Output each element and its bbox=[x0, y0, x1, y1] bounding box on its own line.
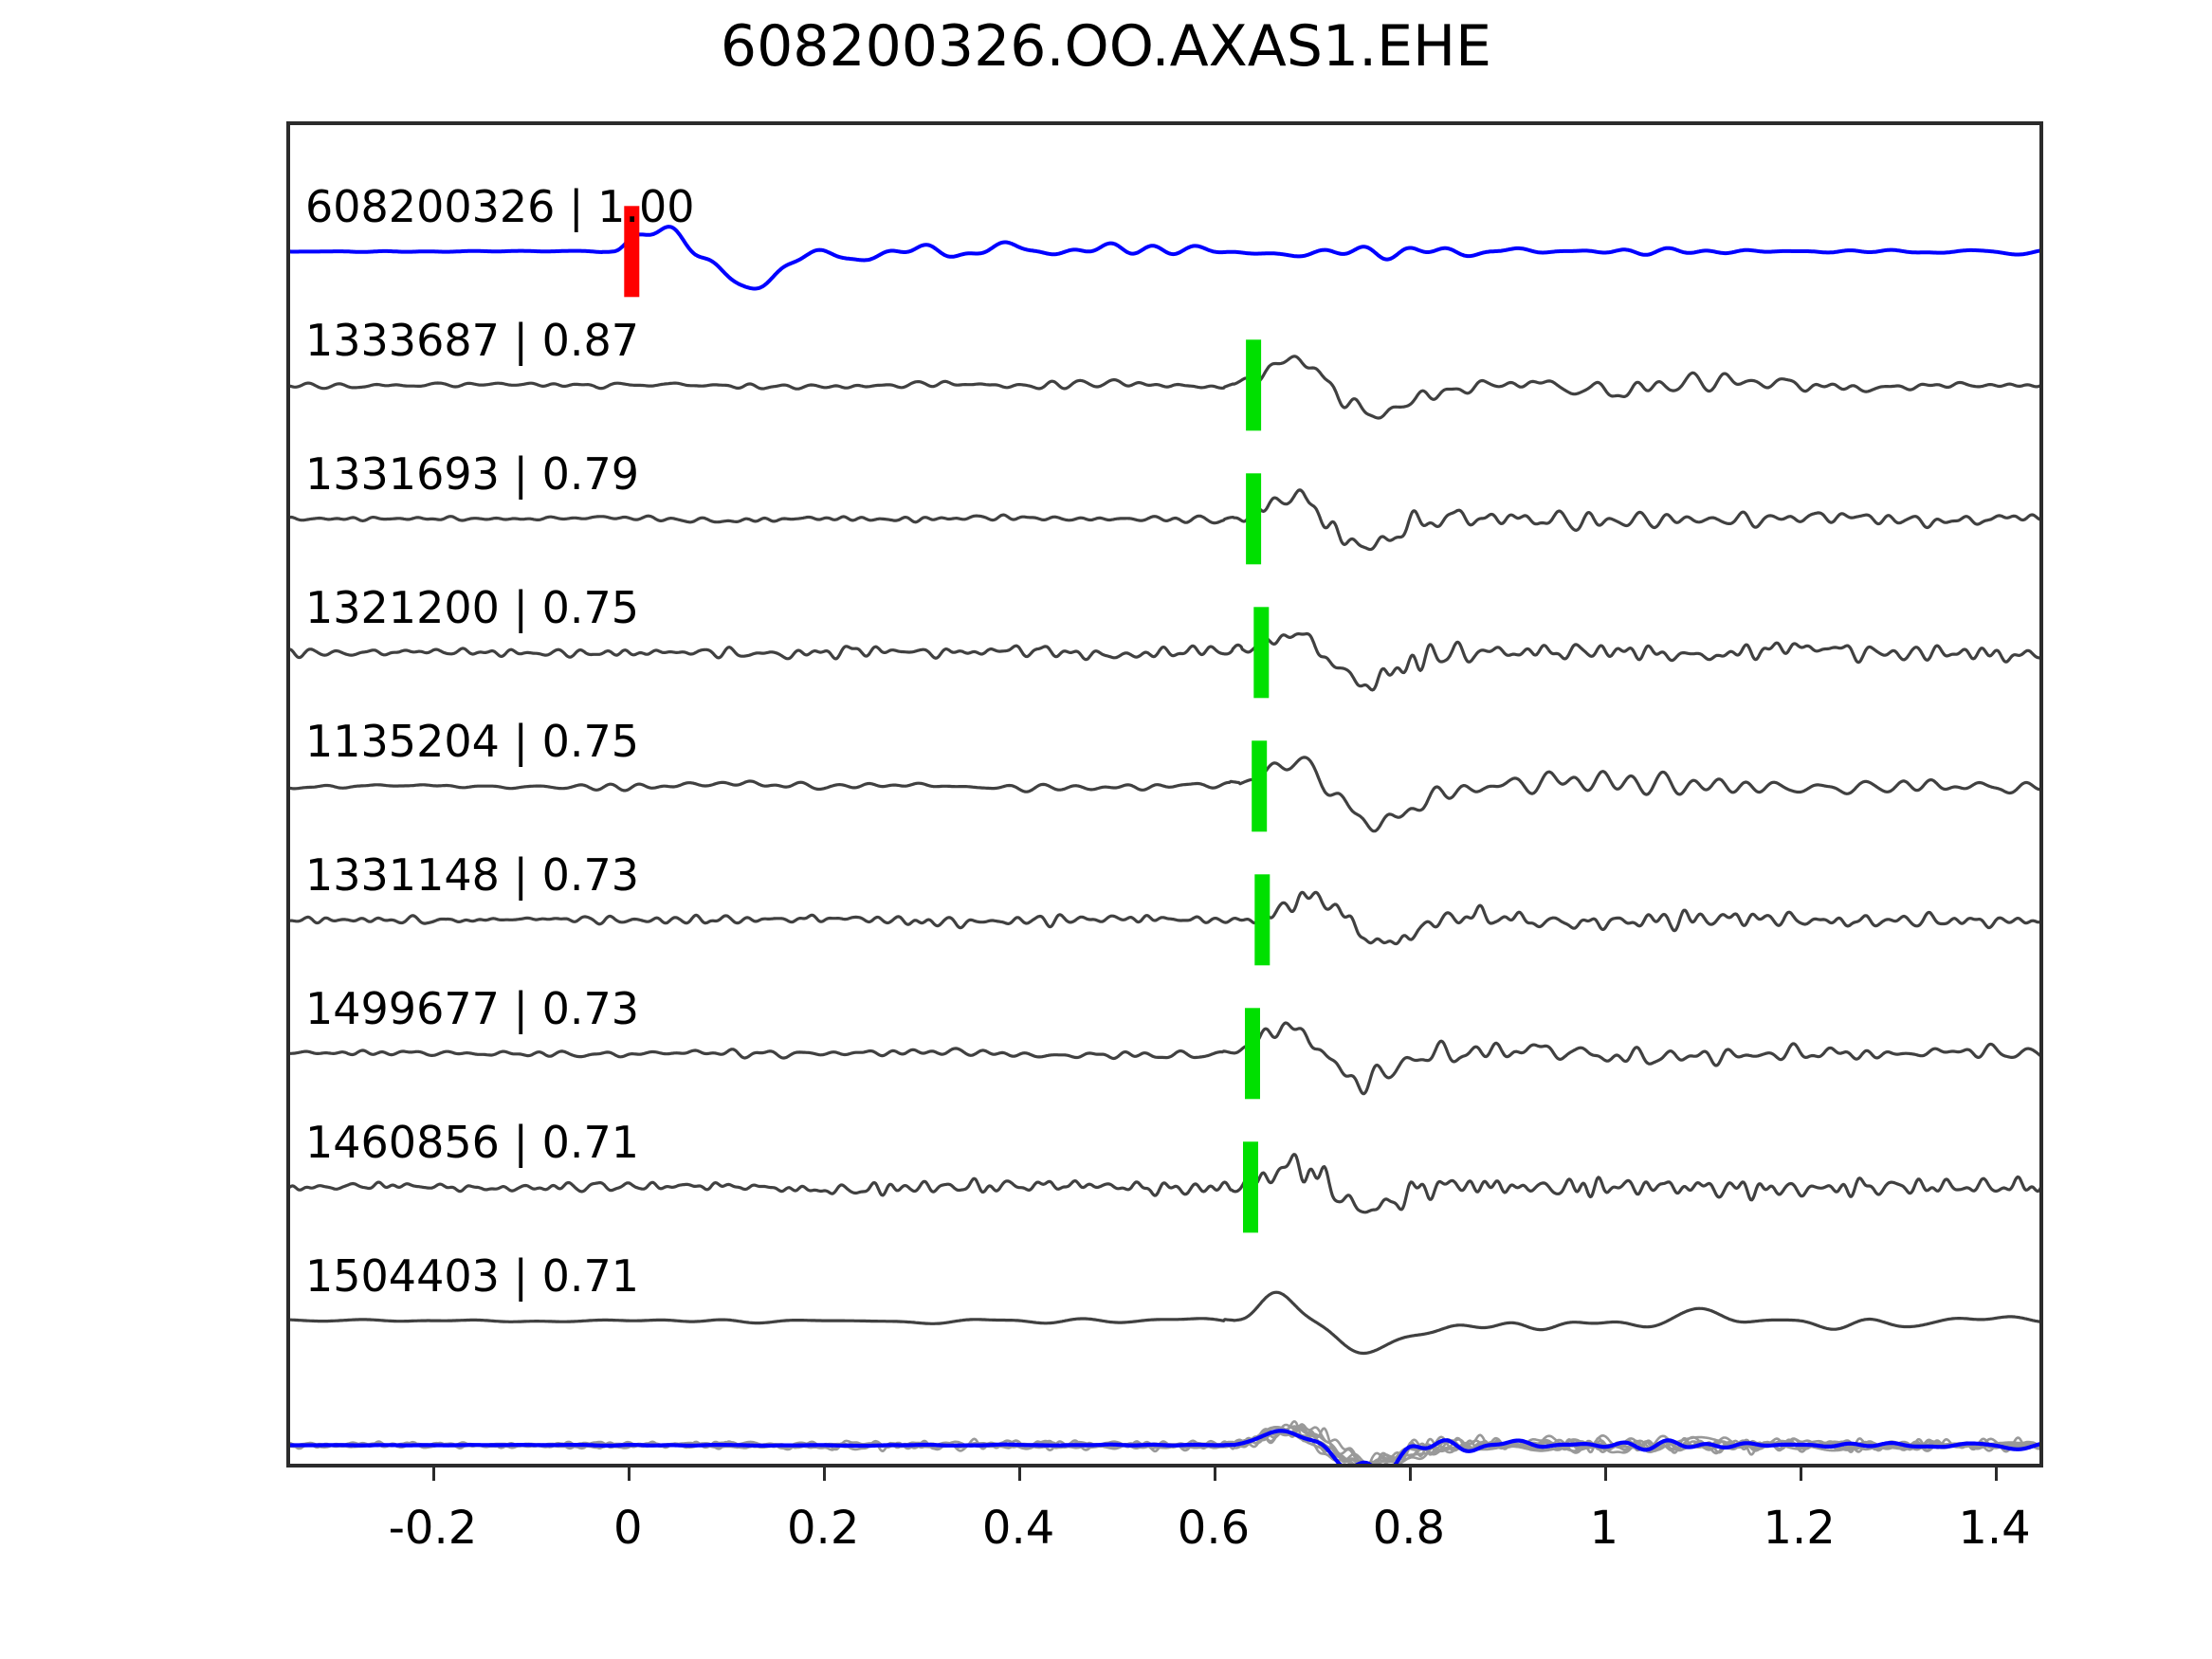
x-tick-mark bbox=[823, 1466, 826, 1481]
x-tick-mark bbox=[628, 1466, 631, 1481]
trace-line-1321200 bbox=[290, 634, 2043, 690]
trace-label-1460856: 1460856 | 0.71 bbox=[305, 1121, 639, 1164]
x-tick-mark bbox=[1995, 1466, 1998, 1481]
pick-marker-detection-1331693 bbox=[1246, 473, 1261, 564]
pick-marker-detection-1499677 bbox=[1245, 1008, 1260, 1099]
x-tick-mark bbox=[1800, 1466, 1802, 1481]
page-title: 608200326.OO.AXAS1.EHE bbox=[0, 13, 2212, 80]
x-axis-tick-labels: -0.200.20.40.60.811.21.4 bbox=[286, 1481, 2043, 1547]
trace-label-1499677: 1499677 | 0.73 bbox=[305, 987, 639, 1030]
trace-label-1333687: 1333687 | 0.87 bbox=[305, 319, 639, 362]
x-tick-mark bbox=[1409, 1466, 1412, 1481]
x-tick-label: -0.2 bbox=[389, 1502, 478, 1555]
x-tick-label: 0.6 bbox=[1178, 1502, 1250, 1555]
x-tick-mark bbox=[1214, 1466, 1216, 1481]
x-tick-label: 1 bbox=[1589, 1502, 1618, 1555]
x-tick-label: 0.8 bbox=[1373, 1502, 1445, 1555]
trace-line-608200326 bbox=[290, 227, 2043, 288]
x-tick-label: 0 bbox=[613, 1502, 643, 1555]
figure-root: 608200326.OO.AXAS1.EHE 608200326 | 1.001… bbox=[0, 0, 2212, 1659]
pick-marker-detection-1331148 bbox=[1254, 874, 1270, 965]
x-tick-label: 1.2 bbox=[1763, 1502, 1835, 1555]
pick-marker-detection-1321200 bbox=[1253, 607, 1269, 698]
x-tick-label: 1.4 bbox=[1958, 1502, 2030, 1555]
x-tick-mark bbox=[1604, 1466, 1607, 1481]
trace-label-1331148: 1331148 | 0.73 bbox=[305, 853, 639, 897]
x-tick-label: 0.2 bbox=[787, 1502, 859, 1555]
trace-label-1504403: 1504403 | 0.71 bbox=[305, 1254, 639, 1298]
trace-label-608200326: 608200326 | 1.00 bbox=[305, 185, 695, 228]
trace-label-1331693: 1331693 | 0.79 bbox=[305, 452, 639, 496]
pick-marker-detection-1460856 bbox=[1243, 1141, 1258, 1232]
trace-label-1321200: 1321200 | 0.75 bbox=[305, 586, 639, 629]
x-tick-mark bbox=[432, 1466, 435, 1481]
x-tick-label: 0.4 bbox=[982, 1502, 1054, 1555]
x-tick-mark bbox=[1018, 1466, 1021, 1481]
trace-line-1135204 bbox=[290, 757, 2043, 831]
pick-marker-detection-1333687 bbox=[1246, 339, 1261, 430]
pick-marker-detection-1135204 bbox=[1252, 740, 1267, 831]
trace-label-1135204: 1135204 | 0.75 bbox=[305, 720, 639, 763]
